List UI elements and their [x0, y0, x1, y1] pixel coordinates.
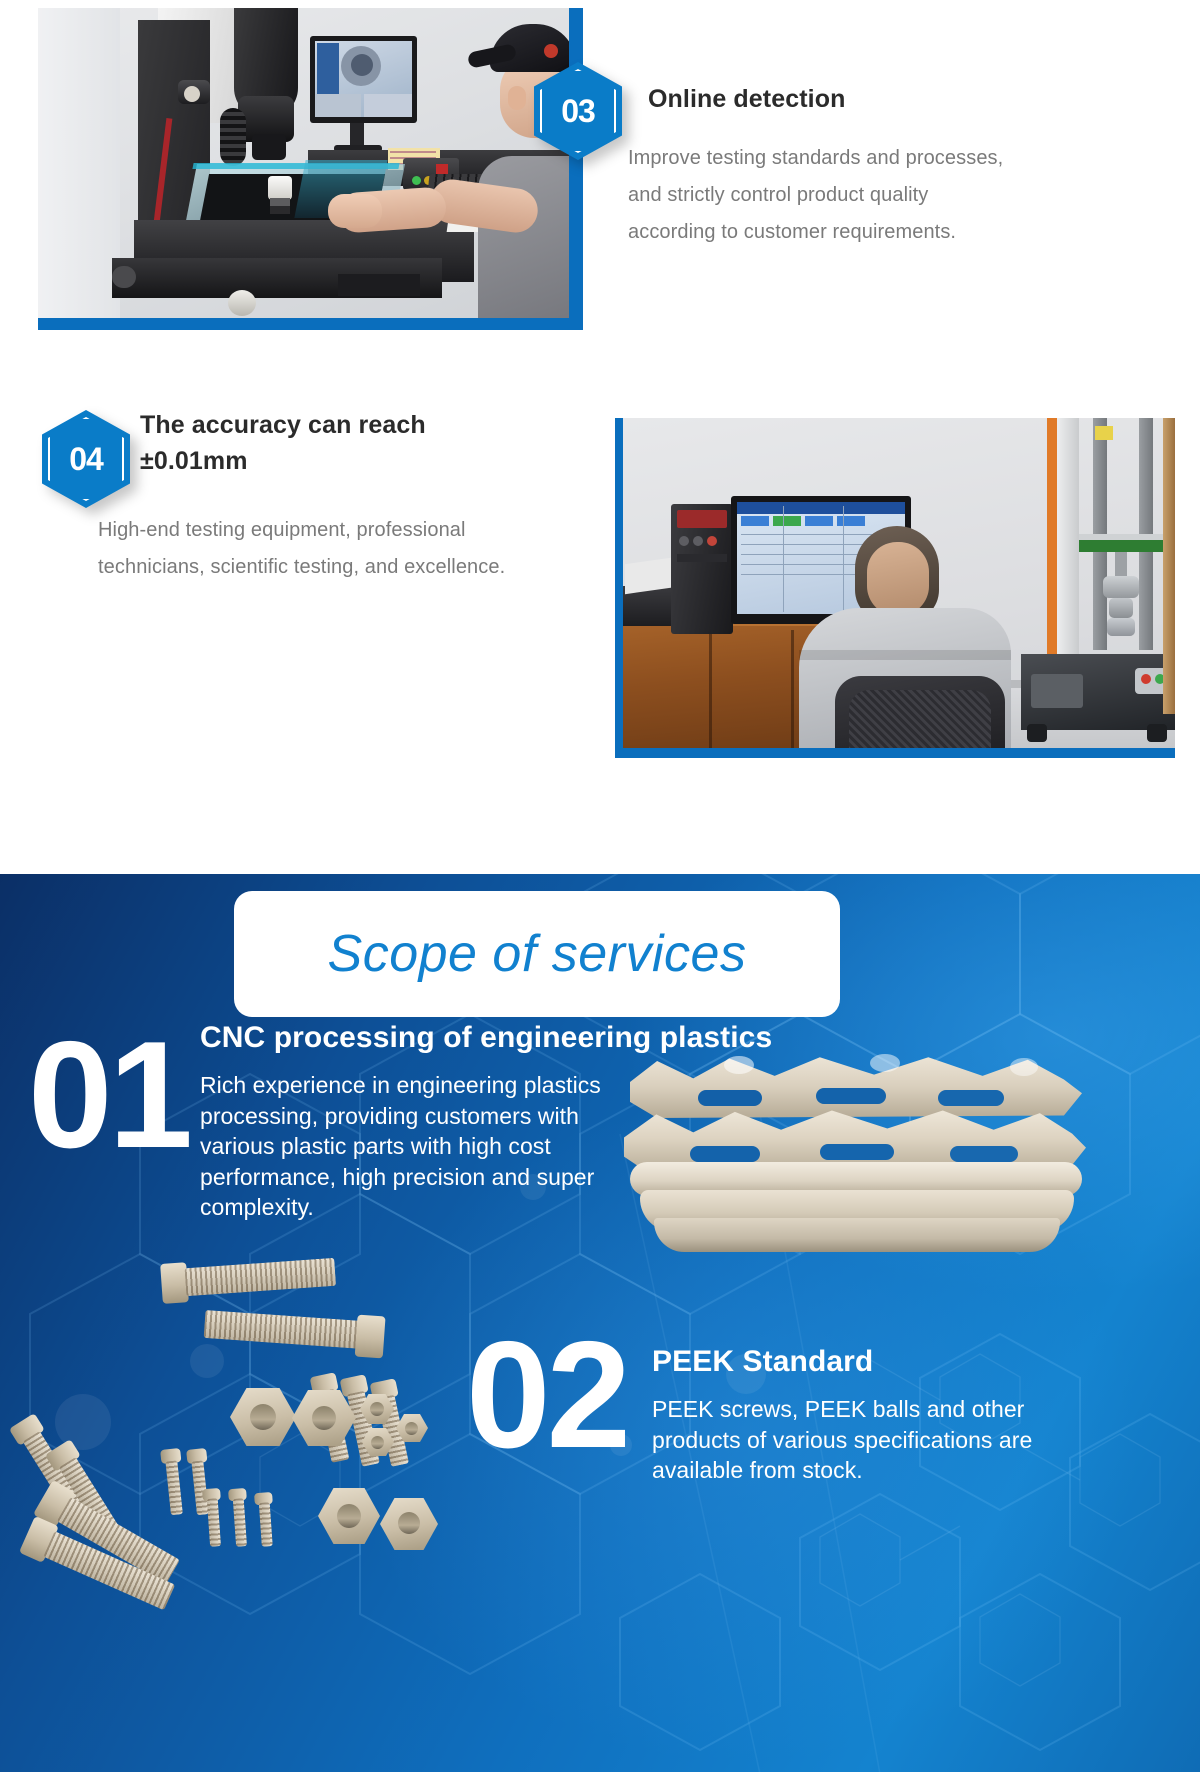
- product-detail-page: 03 Online detection Improve testing stan…: [0, 0, 1200, 1772]
- peek-clamp-part-image: [620, 1050, 1090, 1290]
- service-number-01: 01: [28, 1026, 189, 1166]
- scope-of-services-section: Scope of services 01 CNC processing of e…: [0, 874, 1200, 1772]
- online-detection-photo: [38, 8, 583, 330]
- peek-screws-nuts-image: [30, 1262, 500, 1562]
- feature-body-03: Improve testing standards and processes,…: [628, 140, 1018, 251]
- accuracy-testing-photo: [615, 418, 1175, 758]
- service-title-02: PEEK Standard: [652, 1344, 1112, 1380]
- service-body-01: Rich experience in engineering plastics …: [200, 1070, 620, 1223]
- feature-number-04: 04: [69, 441, 103, 478]
- scope-banner-title-plate: Scope of services: [234, 891, 840, 1017]
- feature-badge-03: 03: [534, 62, 622, 160]
- scope-banner-title: Scope of services: [328, 924, 747, 984]
- service-body-02: PEEK screws, PEEK balls and other produc…: [652, 1394, 1052, 1486]
- feature-badge-04: 04: [42, 410, 130, 508]
- features-section: 03 Online detection Improve testing stan…: [0, 0, 1200, 874]
- feature-number-03: 03: [561, 93, 595, 130]
- feature-body-04: High-end testing equipment, professional…: [98, 512, 528, 586]
- feature-title-04: The accuracy can reach ±0.01mm: [140, 408, 500, 479]
- feature-title-03: Online detection: [648, 82, 1078, 118]
